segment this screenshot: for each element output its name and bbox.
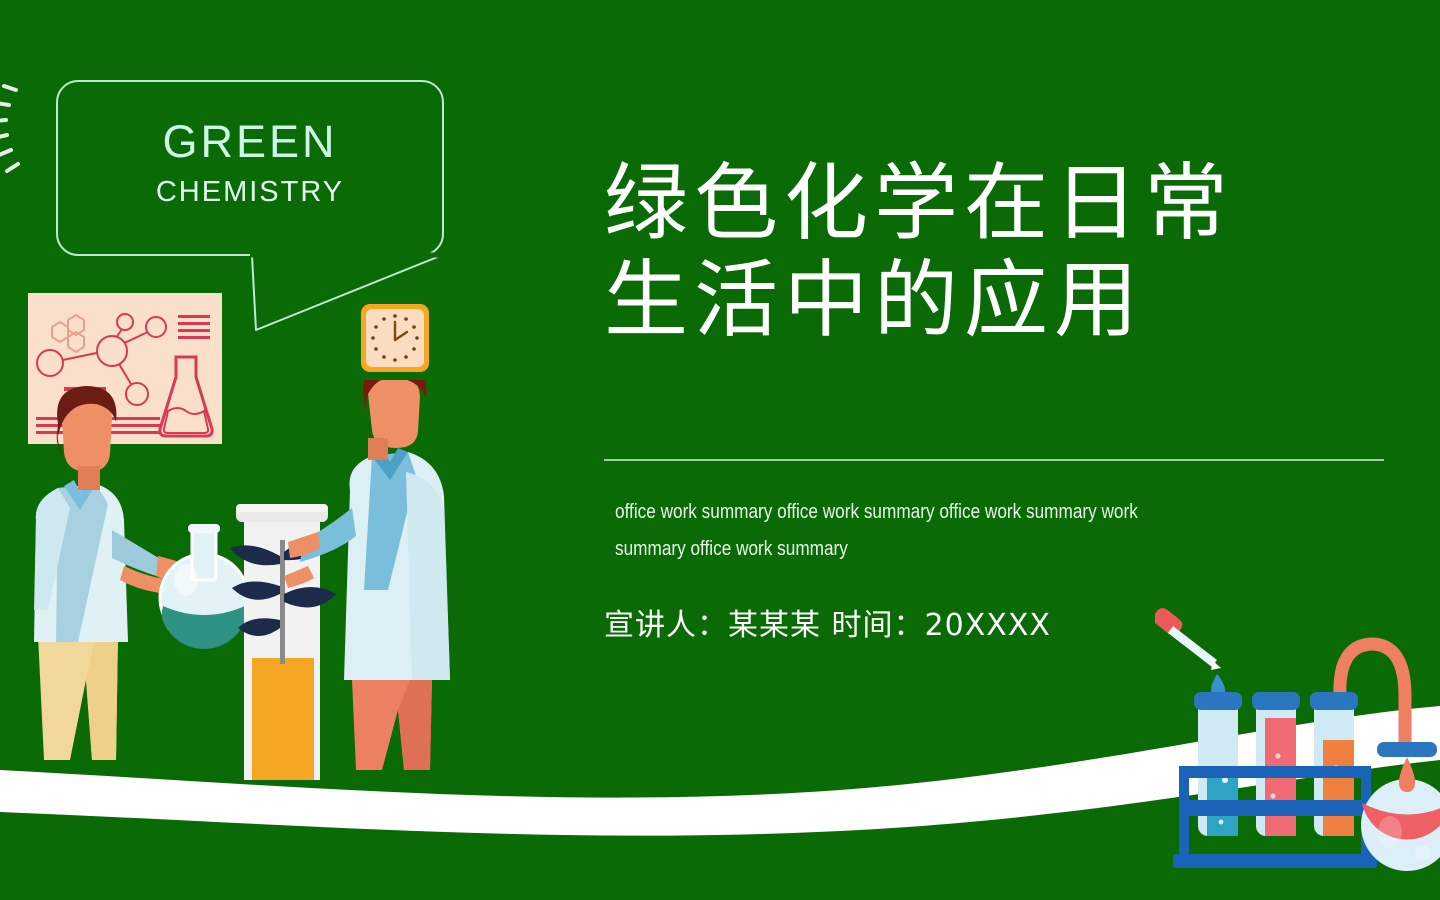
presenter-info: 宣讲人：某某某 时间：20XXXX: [604, 600, 1051, 644]
summary-paragraph: office work summary office work summary …: [615, 494, 1251, 568]
summary-line-2: summary office work summary: [615, 531, 1251, 568]
green-chemistry-badge: GREEN CHEMISTRY: [56, 80, 444, 256]
test-tube-rack-illustration: [1155, 600, 1440, 875]
sparkle-burst-icon: [0, 72, 38, 192]
badge-title: GREEN: [58, 116, 442, 168]
badge-subtitle: CHEMISTRY: [58, 176, 442, 209]
round-bottom-flask-right: [1361, 742, 1440, 871]
page-title: 绿色化学在日常 生活中的应用: [604, 155, 1414, 348]
pipette-dropper: [1155, 605, 1225, 698]
title-divider: [604, 459, 1384, 461]
speech-bubble-tail: [230, 236, 470, 336]
lab-scene-illustration: [0, 380, 500, 800]
wall-clock-icon: [359, 302, 431, 374]
headline-line-1: 绿色化学在日常: [604, 154, 1234, 252]
summary-line-1: office work summary office work summary …: [615, 494, 1251, 531]
presentation-slide: GREEN CHEMISTRY: [0, 0, 1440, 900]
headline-line-2: 生活中的应用: [604, 252, 1414, 349]
